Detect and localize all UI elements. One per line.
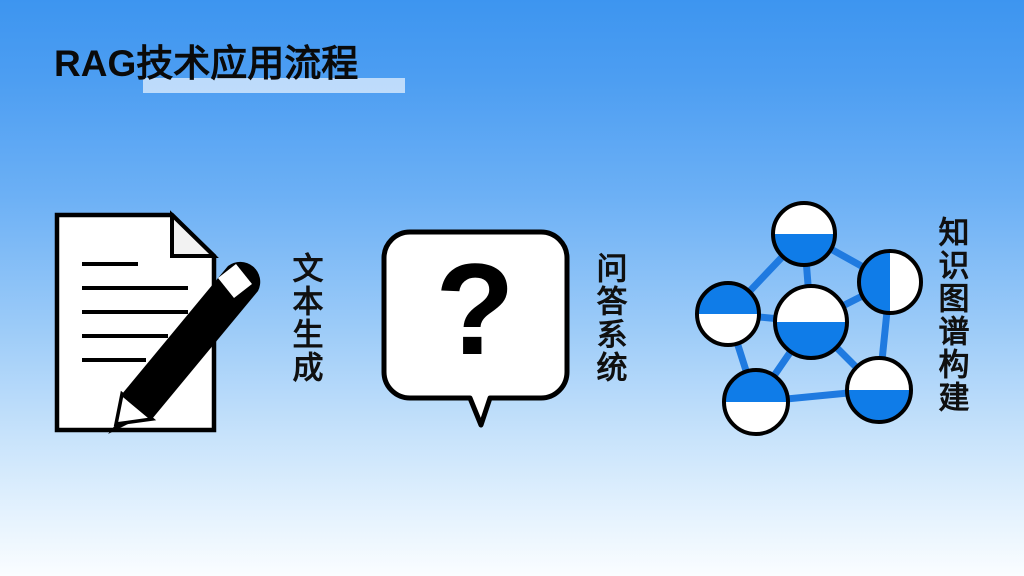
question-mark-glyph: ? [435, 236, 514, 382]
graph-node [773, 203, 835, 265]
graph-node [847, 358, 911, 422]
step-label-text-generation: 文本生成 [288, 252, 321, 384]
page-title-block: RAG技术应用流程 [54, 38, 474, 96]
speech-bubble-question-icon: ? [378, 226, 588, 441]
step-label-knowledge-graph: 知识图谱构建 [934, 216, 967, 414]
graph-node [724, 370, 788, 434]
graph-node [859, 251, 921, 313]
slide-canvas: RAG技术应用流程 [0, 0, 1024, 576]
watermark [886, 519, 1004, 539]
page-title: RAG技术应用流程 [54, 38, 358, 90]
document-pencil-icon [50, 208, 300, 438]
knowledge-graph-icon [676, 194, 946, 446]
step-label-question-answering: 问答系统 [592, 252, 625, 384]
page-fold [172, 215, 214, 256]
graph-node [775, 286, 847, 358]
graph-node [697, 283, 759, 345]
